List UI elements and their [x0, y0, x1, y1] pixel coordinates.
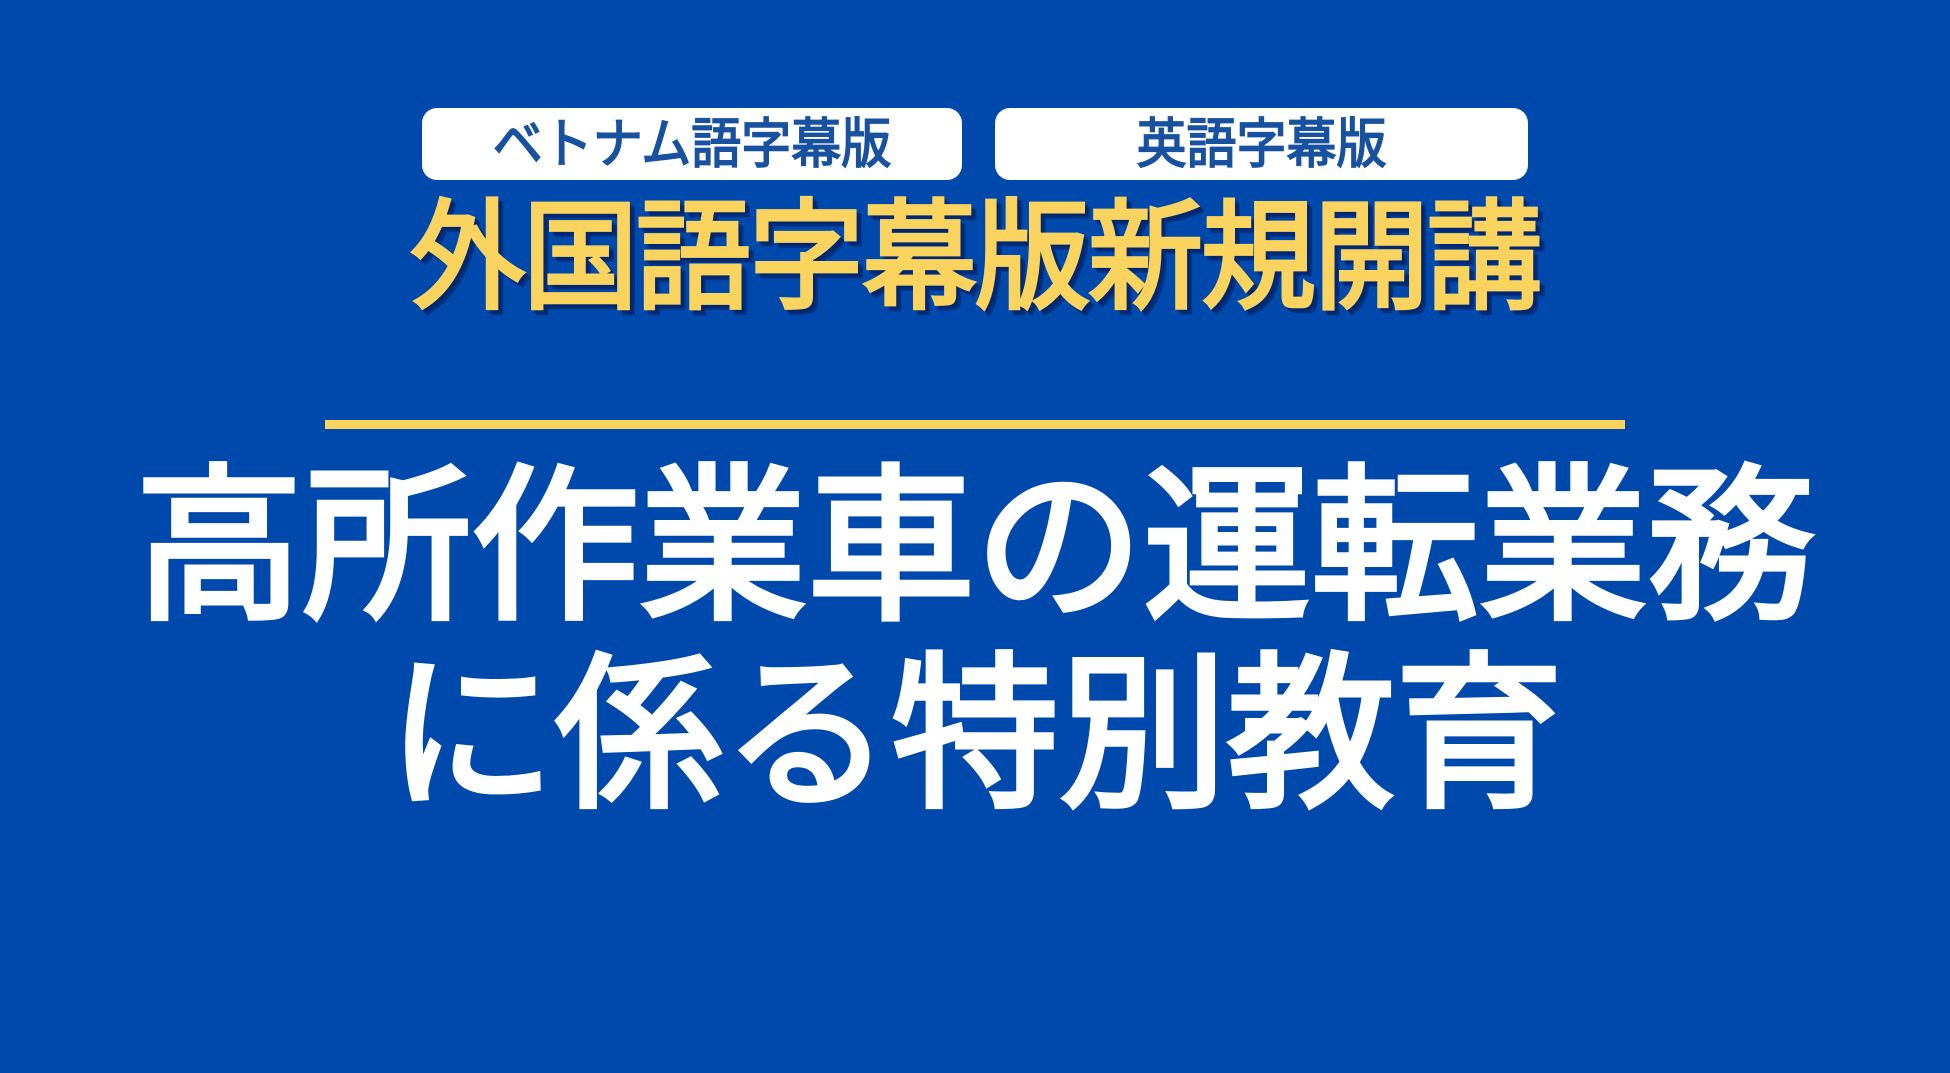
- course-title-line-2: に係る特別教育: [0, 643, 1950, 831]
- yellow-divider: [325, 420, 1625, 429]
- subtitle-language-badges: ベトナム語字幕版 英語字幕版: [0, 108, 1950, 180]
- course-title-line-1: 高所作業車の運転業務: [0, 455, 1950, 643]
- badge-vietnamese-subtitles-label: ベトナム語字幕版: [493, 117, 892, 171]
- badge-english-subtitles-label: 英語字幕版: [1137, 117, 1387, 171]
- headline-new-course-announcement: 外国語字幕版新規開講: [0, 191, 1950, 325]
- badge-english-subtitles[interactable]: 英語字幕版: [995, 108, 1528, 180]
- badge-vietnamese-subtitles[interactable]: ベトナム語字幕版: [422, 108, 962, 180]
- course-title: 高所作業車の運転業務 に係る特別教育: [0, 455, 1950, 831]
- promo-banner: ベトナム語字幕版 英語字幕版 外国語字幕版新規開講 高所作業車の運転業務 に係る…: [0, 0, 1950, 1073]
